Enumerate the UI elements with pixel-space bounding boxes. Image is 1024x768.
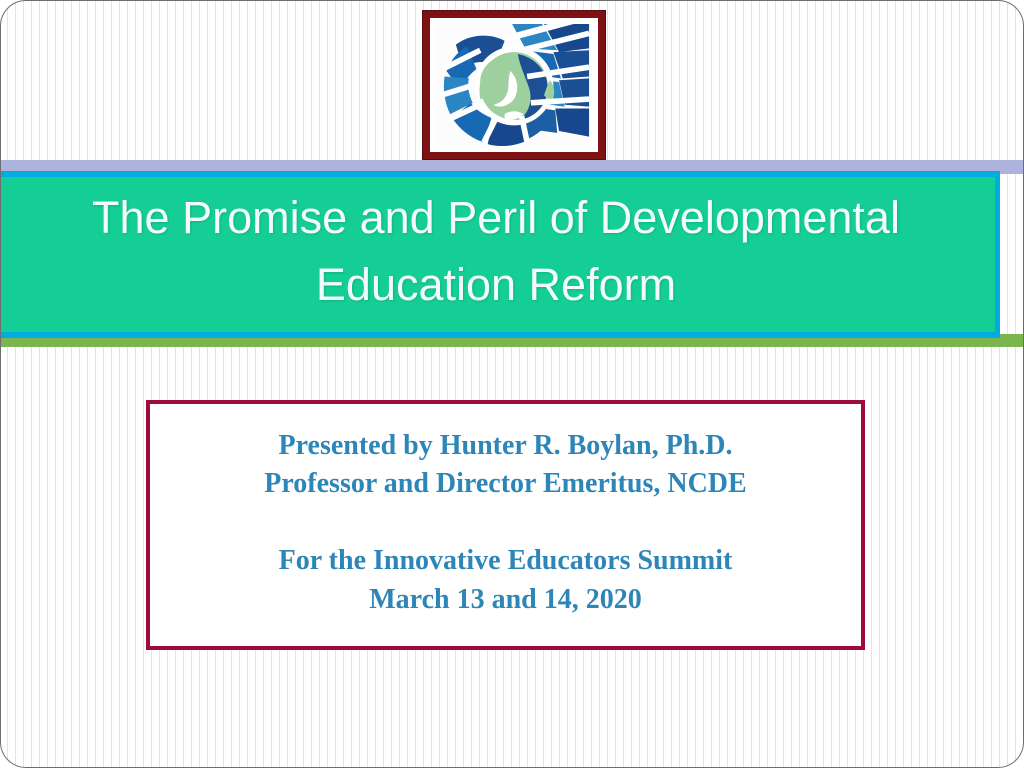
presentation-slide: The Promise and Peril of Developmental E…: [0, 0, 1024, 768]
presenter-info-box: Presented by Hunter R. Boylan, Ph.D. Pro…: [146, 400, 865, 650]
ncde-globe-hands-icon: [436, 24, 592, 146]
logo-inner-border: [434, 22, 594, 148]
presenter-info-text: Presented by Hunter R. Boylan, Ph.D. Pro…: [264, 427, 746, 619]
slide-title: The Promise and Peril of Developmental E…: [0, 185, 995, 324]
title-banner: The Promise and Peril of Developmental E…: [0, 171, 1000, 338]
logo-frame: [423, 11, 605, 159]
